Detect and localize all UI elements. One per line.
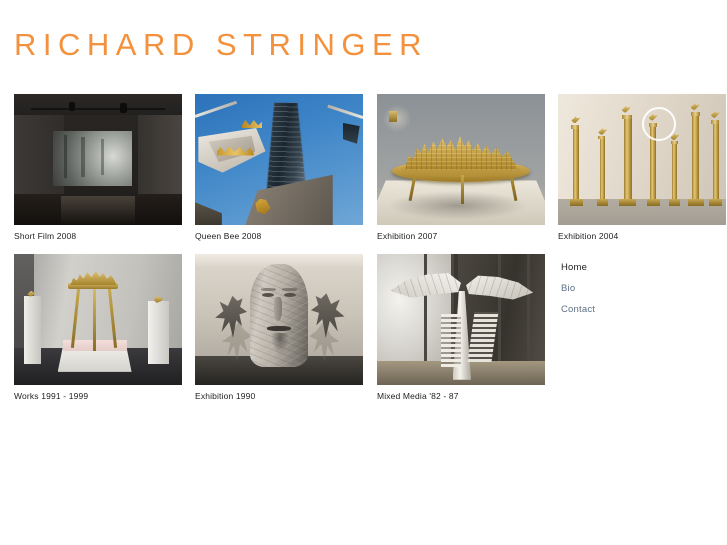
- detail-highlight-ring: [642, 107, 676, 141]
- artwork-carved-head-with-figures: [195, 254, 363, 385]
- artwork-gallery-plinths-bronze-table: [14, 254, 182, 385]
- gallery-item-works-1991-1999[interactable]: Works 1991 - 1999: [14, 254, 182, 402]
- artwork-gold-columns-installation: [558, 94, 726, 225]
- gallery-row: Short Film 2008 Queen Bee 2008: [14, 94, 727, 254]
- gallery-item-exhibition-1990[interactable]: Exhibition 1990: [195, 254, 363, 402]
- thumbnail-caption: Exhibition 1990: [195, 385, 363, 402]
- gallery-item-queen-bee-2008[interactable]: Queen Bee 2008: [195, 94, 363, 242]
- thumbnail-image[interactable]: [14, 94, 182, 225]
- thumbnail-caption: Mixed Media '82 - 87: [377, 385, 545, 402]
- page-title: RICHARD STRINGER: [14, 26, 428, 64]
- artwork-white-winged-sculpture: [377, 254, 545, 385]
- page-root: RICHARD STRINGER Short Film 2008: [0, 0, 727, 545]
- thumbnail-caption: Short Film 2008: [14, 225, 182, 242]
- artwork-skyscraper-with-gold-sculptures: [195, 94, 363, 225]
- nav-item-bio[interactable]: Bio: [561, 283, 721, 295]
- thumbnail-image[interactable]: [377, 94, 545, 225]
- main-navigation: Home Bio Contact: [561, 262, 721, 325]
- gallery-item-mixed-media-82-87[interactable]: Mixed Media '82 - 87: [377, 254, 545, 402]
- artwork-gold-city-on-dish-sculpture: [377, 94, 545, 225]
- gallery-item-exhibition-2007[interactable]: Exhibition 2007: [377, 94, 545, 242]
- thumbnail-image[interactable]: [14, 254, 182, 385]
- thumbnail-caption: Queen Bee 2008: [195, 225, 363, 242]
- thumbnail-image[interactable]: [558, 94, 726, 225]
- thumbnail-image[interactable]: [195, 254, 363, 385]
- artwork-dark-gallery-projection-room: [14, 94, 182, 225]
- nav-item-contact[interactable]: Contact: [561, 304, 721, 316]
- site-header: RICHARD STRINGER: [14, 26, 428, 70]
- gallery-item-short-film-2008[interactable]: Short Film 2008: [14, 94, 182, 242]
- gallery-item-exhibition-2004[interactable]: Exhibition 2004: [558, 94, 726, 242]
- thumbnail-caption: Works 1991 - 1999: [14, 385, 182, 402]
- nav-item-home[interactable]: Home: [561, 262, 721, 274]
- thumbnail-caption: Exhibition 2004: [558, 225, 726, 242]
- thumbnail-caption: Exhibition 2007: [377, 225, 545, 242]
- thumbnail-image[interactable]: [195, 94, 363, 225]
- thumbnail-image[interactable]: [377, 254, 545, 385]
- thumbnail-gallery: Short Film 2008 Queen Bee 2008: [14, 94, 727, 414]
